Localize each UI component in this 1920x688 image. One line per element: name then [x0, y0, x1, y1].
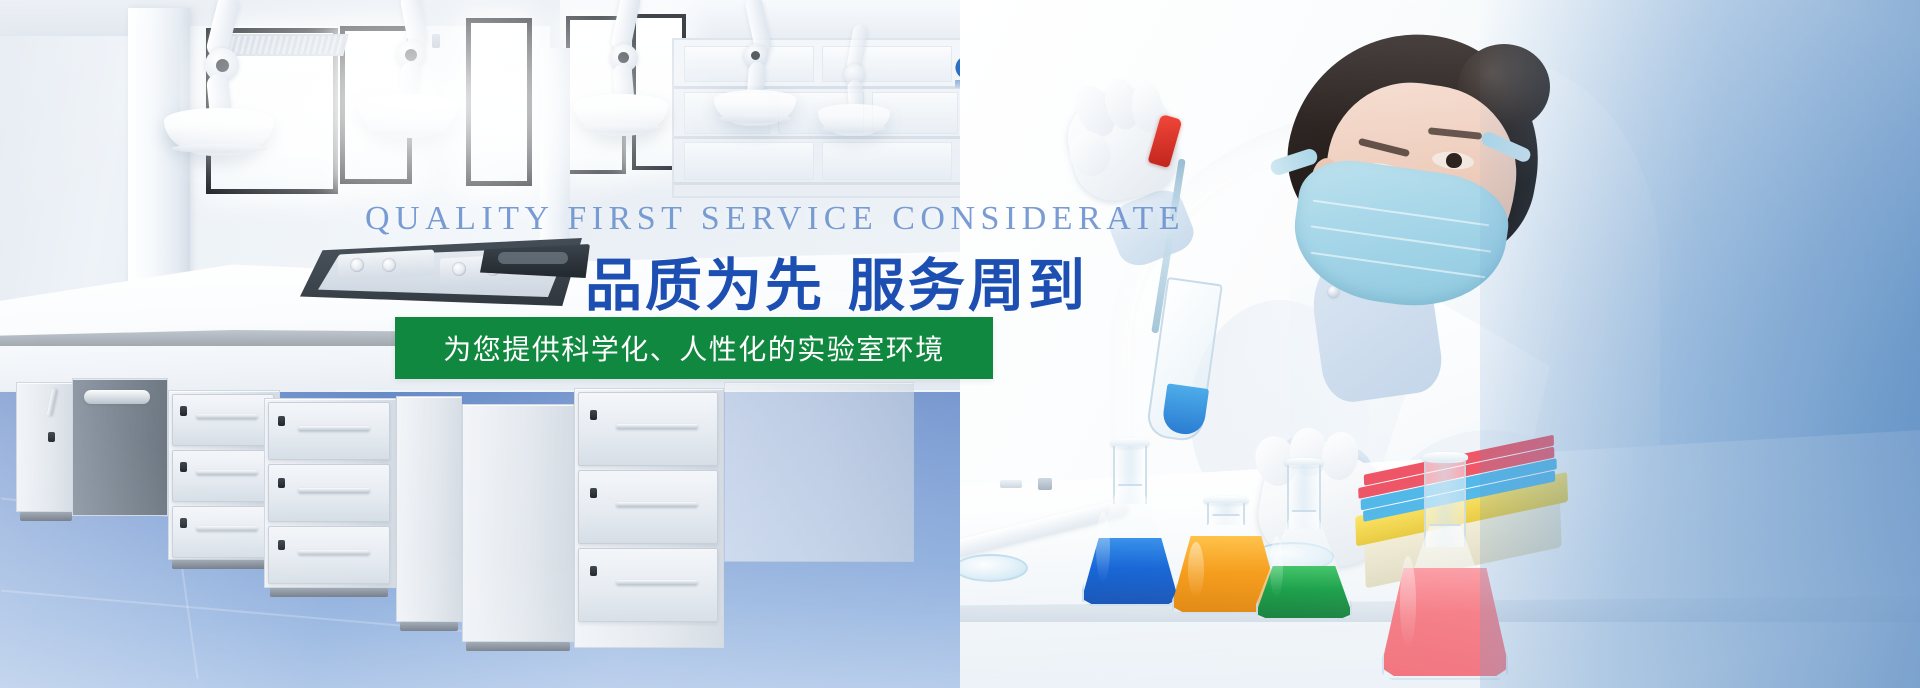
vignette-overlay — [0, 0, 1920, 688]
hero-banner: QUALITY FIRST SERVICE CONSIDERATE 品质为先 服… — [0, 0, 1920, 688]
